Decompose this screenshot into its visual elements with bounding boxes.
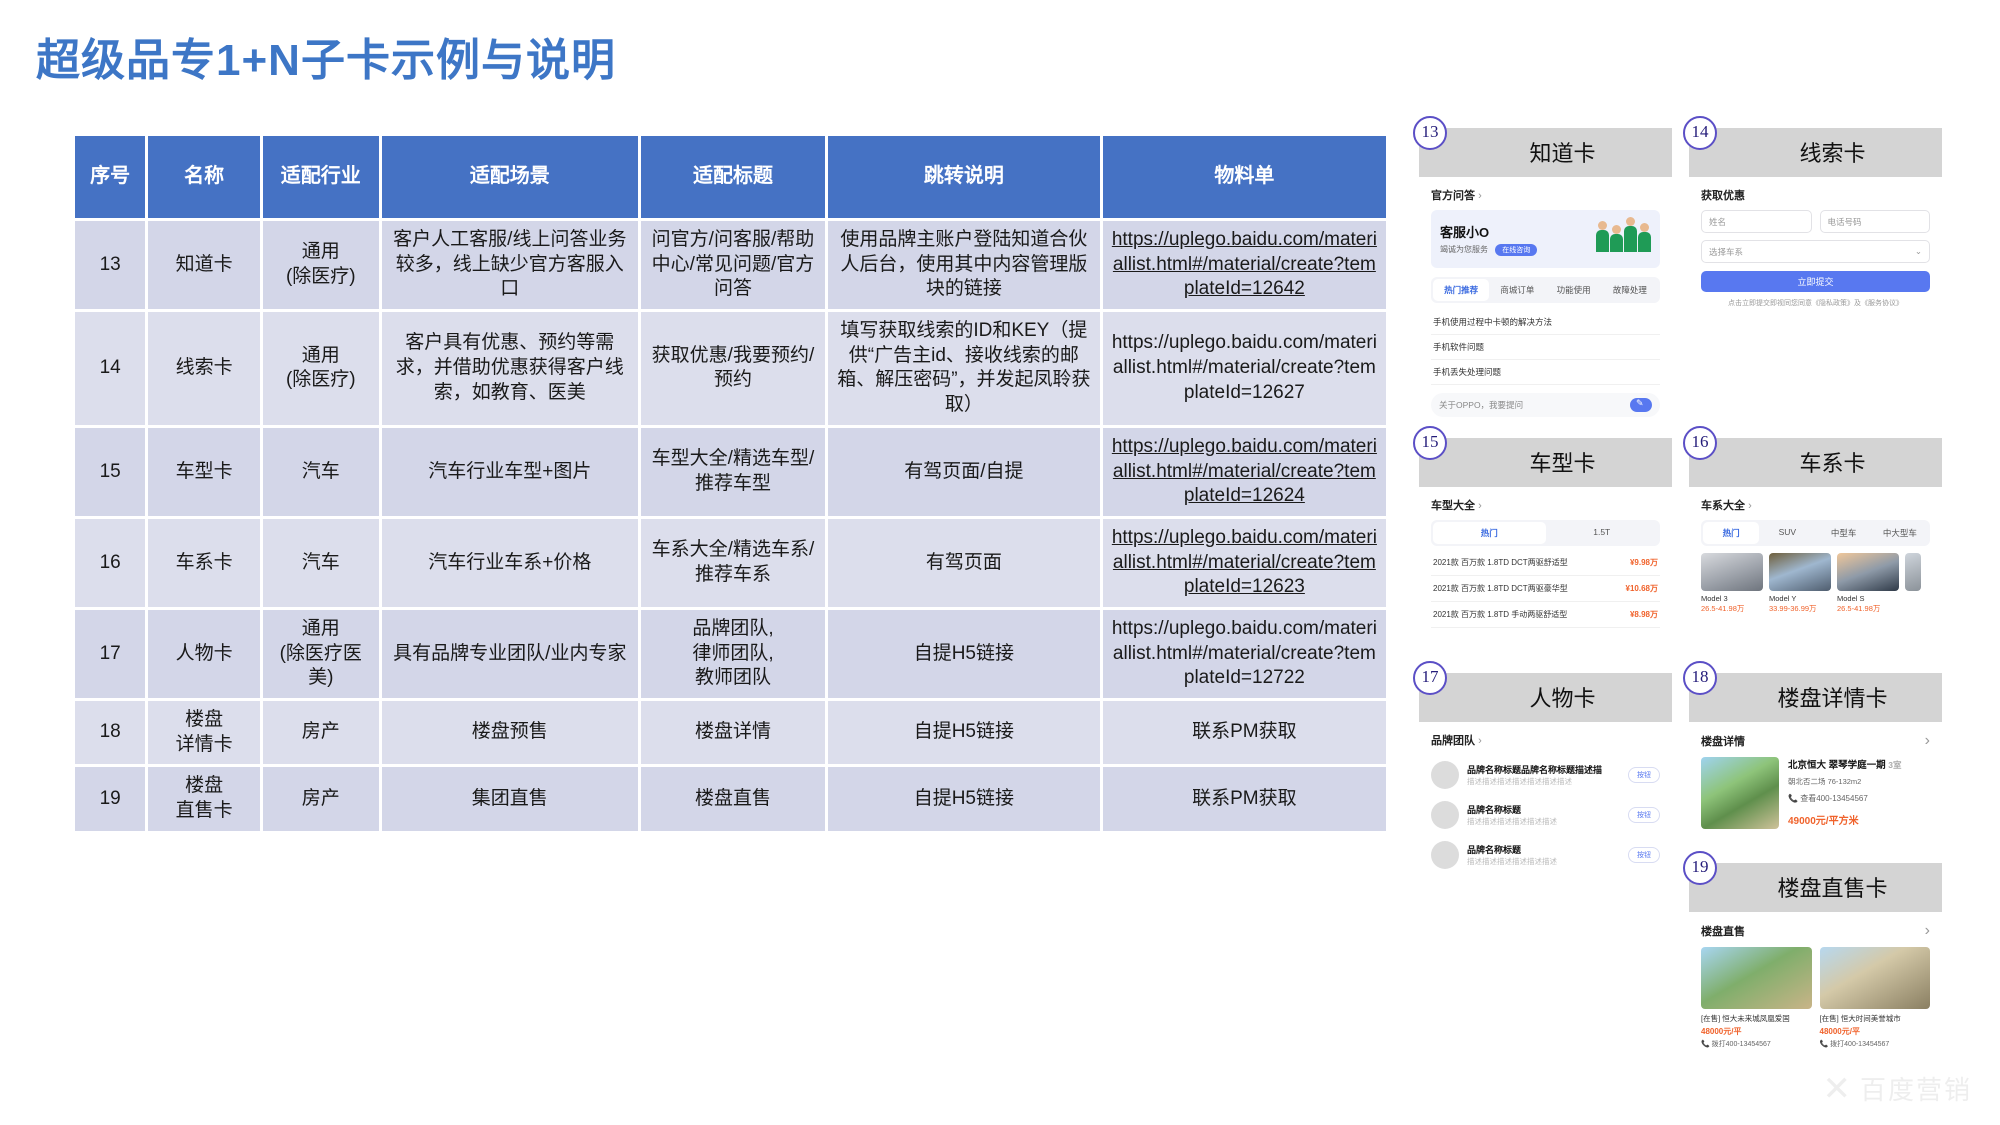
knowledge-question[interactable]: 手机软件问题 [1431, 335, 1660, 360]
series-car-cell[interactable]: Model S26.5-41.98万 [1837, 553, 1899, 614]
house-name-text: 北京恒大 翠琴学庭一期 [1788, 760, 1886, 771]
person-action-button[interactable]: 按钮 [1628, 767, 1660, 783]
column-header-title: 适配标题 [641, 136, 825, 218]
row-scene: 楼盘预售 [382, 701, 638, 764]
preview-card-person: 17 人物卡 品牌团队 › 品牌名称标题品牌名称标题描述描描述描述描述描述描述描… [1419, 673, 1672, 887]
direct-item-price: 48000元/平 [1820, 1026, 1931, 1037]
direct-item[interactable]: [在售] 恒大未来城凤凰爱国48000元/平📞 拨打400-13454567 [1701, 947, 1812, 1049]
person-item-list: 品牌名称标题品牌名称标题描述描描述描述描述描述描述描述描述按钮品牌名称标题描述描… [1431, 755, 1660, 875]
material-link[interactable]: 联系PM获取 [1192, 721, 1297, 742]
person-desc: 描述描述描述描述描述描述 [1467, 816, 1620, 827]
row-title: 楼盘直售 [641, 767, 825, 830]
row-name: 楼盘详情卡 [148, 701, 260, 764]
house-name: 北京恒大 翠琴学庭一期 3室 [1788, 757, 1930, 772]
series-tabs[interactable]: 热门SUV中型车中大型车 [1701, 520, 1930, 546]
house-spec: 朝北否二场 76-132m2 [1788, 776, 1930, 787]
card-badge-19: 19 [1683, 851, 1717, 885]
person-text: 品牌名称标题描述描述描述描述描述描述 [1467, 843, 1620, 867]
table-row: 14线索卡通用(除医疗)客户具有优惠、预约等需求，并借助优惠获得客户线索，如教育… [75, 312, 1386, 425]
series-tab[interactable]: SUV [1759, 522, 1815, 544]
card-title-series: 车系卡 [1689, 438, 1942, 487]
table-row: 13知道卡通用(除医疗)客户人工客服/线上问答业务较多，线上缺少官方客服入口问官… [75, 221, 1386, 309]
series-tab[interactable]: 中型车 [1816, 522, 1872, 544]
knowledge-tab[interactable]: 功能使用 [1546, 279, 1602, 301]
direct-item-name: [在售] 恒大时间美誉城市 [1820, 1013, 1931, 1024]
house-section-head: 楼盘详情 › [1701, 732, 1930, 750]
direct-item-name: [在售] 恒大未来城凤凰爱国 [1701, 1013, 1812, 1024]
privacy-note: 点击立即提交即视同您同意《隐私政策》及《服务协议》 [1701, 298, 1930, 308]
chevron-right-icon[interactable]: › [1748, 500, 1752, 512]
series-car-name: Model S [1837, 594, 1899, 603]
row-material[interactable]: 联系PM获取 [1103, 767, 1386, 830]
row-material[interactable]: https://uplego.baidu.com/materiallist.ht… [1103, 428, 1386, 516]
series-car-price: 26.5-41.98万 [1837, 603, 1899, 614]
person-item[interactable]: 品牌名称标题描述描述描述描述描述描述按钮 [1431, 835, 1660, 875]
chevron-right-icon[interactable]: › [1925, 922, 1930, 940]
row-name: 车型卡 [148, 428, 260, 516]
series-car-photo [1769, 553, 1831, 591]
card-title-model: 车型卡 [1419, 438, 1672, 487]
model-tab[interactable]: 1.5T [1546, 522, 1659, 544]
chevron-right-icon[interactable]: › [1478, 500, 1482, 512]
series-car-cell[interactable]: Model Y33.99-36.99万 [1769, 553, 1831, 614]
row-jump: 有驾页面/自提 [828, 428, 1100, 516]
ask-input[interactable]: 关于OPPO，我要提问 [1431, 393, 1660, 417]
series-car-photo [1701, 553, 1763, 591]
row-no: 13 [75, 221, 145, 309]
spec-table: 序号 名称 适配行业 适配场景 适配标题 跳转说明 物料单 13知道卡通用(除医… [72, 133, 1389, 834]
model-tab[interactable]: 热门 [1433, 522, 1546, 544]
row-material[interactable]: https://uplego.baidu.com/materiallist.ht… [1103, 221, 1386, 309]
knowledge-question[interactable]: 手机使用过程中卡顿的解决方法 [1431, 310, 1660, 335]
row-no: 16 [75, 519, 145, 607]
row-scene: 汽车行业车系+价格 [382, 519, 638, 607]
row-industry: 通用(除医疗医美) [263, 610, 379, 698]
ask-placeholder: 关于OPPO，我要提问 [1439, 399, 1523, 411]
person-desc: 描述描述描述描述描述描述 [1467, 856, 1620, 867]
preview-card-house: 18 楼盘详情卡 楼盘详情 › 北京恒大 翠琴学庭一期 3室 朝北否二场 76-… [1689, 673, 1942, 841]
house-tag: 3室 [1888, 760, 1901, 770]
preview-card-series: 16 车系卡 车系大全 › 热门SUV中型车中大型车 Model 326.5-4… [1689, 438, 1942, 626]
lead-input-row: 姓名 电话号码 [1701, 210, 1930, 233]
row-scene: 客户人工客服/线上问答业务较多，线上缺少官方客服入口 [382, 221, 638, 309]
avatar [1431, 761, 1459, 789]
agents-illustration [1596, 226, 1651, 252]
row-jump: 自提H5链接 [828, 701, 1100, 764]
table-row: 18楼盘详情卡房产楼盘预售楼盘详情自提H5链接联系PM获取 [75, 701, 1386, 764]
house-photo [1701, 757, 1779, 829]
section-text: 品牌团队 [1431, 735, 1475, 747]
model-tabs[interactable]: 热门1.5T [1431, 520, 1660, 546]
person-action-button[interactable]: 按钮 [1628, 807, 1660, 823]
row-no: 17 [75, 610, 145, 698]
card-badge-18: 18 [1683, 661, 1717, 695]
table-row: 19楼盘直售卡房产集团直售楼盘直售自提H5链接联系PM获取 [75, 767, 1386, 830]
section-label-get-offer: 获取优惠 [1701, 187, 1930, 203]
card-title-house: 楼盘详情卡 [1689, 673, 1942, 722]
direct-section-head: 楼盘直售 › [1701, 922, 1930, 940]
row-title: 车型大全/精选车型/推荐车型 [641, 428, 825, 516]
page-title: 超级品专1+N子卡示例与说明 [36, 24, 616, 88]
knowledge-tabs[interactable]: 热门推荐商城订单功能使用故障处理 [1431, 277, 1660, 303]
section-label-direct-sale: 楼盘直售 [1701, 923, 1745, 939]
name-field[interactable]: 姓名 [1701, 210, 1812, 233]
person-item[interactable]: 品牌名称标题描述描述描述描述描述描述按钮 [1431, 795, 1660, 835]
card-body-house: 楼盘详情 › 北京恒大 翠琴学庭一期 3室 朝北否二场 76-132m2 📞 查… [1689, 722, 1942, 841]
row-scene: 具有品牌专业团队/业内专家 [382, 610, 638, 698]
card-badge-15: 15 [1413, 426, 1447, 460]
direct-item-phone[interactable]: 📞 拨打400-13454567 [1701, 1039, 1812, 1049]
series-car-name: Model Y [1769, 594, 1831, 603]
knowledge-question[interactable]: 手机丢失处理问题 [1431, 360, 1660, 385]
row-material[interactable]: https://uplego.baidu.com/materiallist.ht… [1103, 312, 1386, 425]
direct-item-phone[interactable]: 📞 拨打400-13454567 [1820, 1039, 1931, 1049]
preview-card-lead: 14 线索卡 获取优惠 姓名 电话号码 选择车系 ⌄ 立即提交 点击立即提交即视… [1689, 128, 1942, 320]
knowledge-question-list: 手机使用过程中卡顿的解决方法手机软件问题手机丢失处理问题 [1431, 310, 1660, 385]
card-body-person: 品牌团队 › 品牌名称标题品牌名称标题描述描描述描述描述描述描述描述描述按钮品牌… [1419, 722, 1672, 887]
table-header-row: 序号 名称 适配行业 适配场景 适配标题 跳转说明 物料单 [75, 136, 1386, 218]
series-select[interactable]: 选择车系 ⌄ [1701, 240, 1930, 263]
agent-name: 客服小O [1440, 222, 1537, 241]
card-badge-16: 16 [1683, 426, 1717, 460]
table-row: 16车系卡汽车汽车行业车系+价格车系大全/精选车系/推荐车系有驾页面https:… [75, 519, 1386, 607]
section-label-brand-team: 品牌团队 › [1431, 732, 1660, 748]
card-body-direct: 楼盘直售 › [在售] 恒大未来城凤凰爱国48000元/平📞 拨打400-134… [1689, 912, 1942, 1061]
section-label-official-qa: 官方问答 › [1431, 187, 1660, 203]
column-header-name: 名称 [148, 136, 260, 218]
material-link[interactable]: https://uplego.baidu.com/materiallist.ht… [1112, 332, 1377, 402]
row-industry: 房产 [263, 701, 379, 764]
card-title-knowledge: 知道卡 [1419, 128, 1672, 177]
row-jump: 填写获取线索的ID和KEY（提供“广告主id、接收线索的邮箱、解压密码”，并发起… [828, 312, 1100, 425]
preview-panel: 13 知道卡 官方问答 › 客服小O 竭诚为您服务 在线咨询 [1419, 128, 1979, 1088]
model-item[interactable]: 2021款 百万款 1.8TD DCT两驱豪华型¥10.68万 [1431, 576, 1660, 602]
submit-button[interactable]: 立即提交 [1701, 271, 1930, 292]
series-car-price: 33.99-36.99万 [1769, 603, 1831, 614]
row-title: 问官方/问客服/帮助中心/常见问题/官方问答 [641, 221, 825, 309]
section-label-series-list: 车系大全 › [1701, 497, 1930, 513]
person-action-button[interactable]: 按钮 [1628, 847, 1660, 863]
knowledge-tab[interactable]: 故障处理 [1602, 279, 1658, 301]
model-item-price: ¥10.68万 [1626, 583, 1658, 594]
row-title: 楼盘详情 [641, 701, 825, 764]
direct-item-row: [在售] 恒大未来城凤凰爱国48000元/平📞 拨打400-13454567[在… [1701, 947, 1930, 1049]
row-material[interactable]: 联系PM获取 [1103, 701, 1386, 764]
series-tab[interactable]: 热门 [1703, 522, 1759, 544]
card-title-direct: 楼盘直售卡 [1689, 863, 1942, 912]
chevron-down-icon: ⌄ [1915, 246, 1922, 257]
card-badge-13: 13 [1413, 116, 1447, 150]
card-body-model: 车型大全 › 热门1.5T 2021款 百万款 1.8TD DCT两驱舒适型¥9… [1419, 487, 1672, 640]
agent-banner[interactable]: 客服小O 竭诚为您服务 在线咨询 [1431, 210, 1660, 268]
preview-card-direct: 19 楼盘直售卡 楼盘直售 › [在售] 恒大未来城凤凰爱国48000元/平📞 … [1689, 863, 1942, 1061]
row-industry: 通用(除医疗) [263, 221, 379, 309]
column-header-scene: 适配场景 [382, 136, 638, 218]
table-row: 17人物卡通用(除医疗医美)具有品牌专业团队/业内专家品牌团队,律师团队,教师团… [75, 610, 1386, 698]
row-jump: 有驾页面 [828, 519, 1100, 607]
direct-item[interactable]: [在售] 恒大时间美誉城市48000元/平📞 拨打400-13454567 [1820, 947, 1931, 1049]
direct-item-price: 48000元/平 [1701, 1026, 1812, 1037]
series-tab[interactable]: 中大型车 [1872, 522, 1928, 544]
preview-card-knowledge: 13 知道卡 官方问答 › 客服小O 竭诚为您服务 在线咨询 [1419, 128, 1672, 429]
model-item-price: ¥9.98万 [1630, 557, 1658, 568]
material-link[interactable]: https://uplego.baidu.com/materiallist.ht… [1112, 618, 1377, 688]
agent-pill[interactable]: 在线咨询 [1495, 244, 1537, 256]
row-scene: 客户具有优惠、预约等需求，并借助优惠获得客户线索，如教育、医美 [382, 312, 638, 425]
series-car-cell-partial[interactable] [1905, 553, 1921, 614]
card-body-lead: 获取优惠 姓名 电话号码 选择车系 ⌄ 立即提交 点击立即提交即视同您同意《隐私… [1689, 177, 1942, 320]
person-text: 品牌名称标题描述描述描述描述描述描述 [1467, 803, 1620, 827]
watermark: ✕ 百度营销 [1822, 1070, 1972, 1107]
section-text: 车型大全 [1431, 500, 1475, 512]
row-industry: 通用(除医疗) [263, 312, 379, 425]
material-link[interactable]: https://uplego.baidu.com/materiallist.ht… [1112, 229, 1377, 299]
series-select-value: 选择车系 [1709, 246, 1743, 258]
row-name: 人物卡 [148, 610, 260, 698]
model-item-price: ¥8.98万 [1630, 609, 1658, 620]
row-name: 线索卡 [148, 312, 260, 425]
row-no: 19 [75, 767, 145, 830]
material-link[interactable]: 联系PM获取 [1192, 788, 1297, 809]
section-label-house-detail: 楼盘详情 [1701, 733, 1745, 749]
row-industry: 汽车 [263, 519, 379, 607]
row-industry: 汽车 [263, 428, 379, 516]
pencil-icon[interactable] [1630, 398, 1652, 412]
section-label-model-list: 车型大全 › [1431, 497, 1660, 513]
card-badge-17: 17 [1413, 661, 1447, 695]
series-car-name: Model 3 [1701, 594, 1763, 603]
material-link[interactable]: https://uplego.baidu.com/materiallist.ht… [1112, 436, 1377, 506]
column-header-jump: 跳转说明 [828, 136, 1100, 218]
material-link[interactable]: https://uplego.baidu.com/materiallist.ht… [1112, 527, 1377, 597]
watermark-text: 百度营销 [1860, 1070, 1972, 1107]
row-name: 知道卡 [148, 221, 260, 309]
series-car-photo [1837, 553, 1899, 591]
section-text: 车系大全 [1701, 500, 1745, 512]
series-car-grid: Model 326.5-41.98万Model Y33.99-36.99万Mod… [1701, 553, 1930, 614]
preview-card-model: 15 车型卡 车型大全 › 热门1.5T 2021款 百万款 1.8TD DCT… [1419, 438, 1672, 640]
person-text: 品牌名称标题品牌名称标题描述描描述描述描述描述描述描述描述 [1467, 763, 1620, 787]
column-header-industry: 适配行业 [263, 136, 379, 218]
row-jump: 自提H5链接 [828, 767, 1100, 830]
row-jump: 使用品牌主账户登陆知道合伙人后台，使用其中内容管理版块的链接 [828, 221, 1100, 309]
chevron-right-icon[interactable]: › [1478, 735, 1482, 747]
house-phone-text: 查看400-13454567 [1800, 794, 1868, 803]
card-title-lead: 线索卡 [1689, 128, 1942, 177]
row-jump: 自提H5链接 [828, 610, 1100, 698]
section-text: 官方问答 [1431, 190, 1475, 202]
house-row[interactable]: 北京恒大 翠琴学庭一期 3室 朝北否二场 76-132m2 📞 查看400-13… [1701, 757, 1930, 829]
agent-sub-text: 竭诚为您服务 [1440, 245, 1488, 254]
row-title: 获取优惠/我要预约/预约 [641, 312, 825, 425]
row-name: 楼盘直售卡 [148, 767, 260, 830]
avatar [1431, 841, 1459, 869]
knowledge-tab[interactable]: 商城订单 [1489, 279, 1545, 301]
row-name: 车系卡 [148, 519, 260, 607]
column-header-no: 序号 [75, 136, 145, 218]
agent-subtitle: 竭诚为您服务 在线咨询 [1440, 244, 1537, 256]
chevron-right-icon[interactable]: › [1925, 732, 1930, 750]
series-car-photo [1905, 553, 1921, 591]
card-badge-14: 14 [1683, 116, 1717, 150]
model-item-name: 2021款 百万款 1.8TD DCT两驱舒适型 [1433, 557, 1568, 568]
house-info: 北京恒大 翠琴学庭一期 3室 朝北否二场 76-132m2 📞 查看400-13… [1788, 757, 1930, 829]
person-desc: 描述描述描述描述描述描述描述 [1467, 776, 1620, 787]
direct-item-photo [1701, 947, 1812, 1009]
column-header-material: 物料单 [1103, 136, 1386, 218]
chevron-right-icon[interactable]: › [1478, 190, 1482, 202]
row-title: 车系大全/精选车系/推荐车系 [641, 519, 825, 607]
house-price: 49000元/平方米 [1788, 812, 1930, 827]
card-body-knowledge: 官方问答 › 客服小O 竭诚为您服务 在线咨询 热门推荐商 [1419, 177, 1672, 429]
row-no: 15 [75, 428, 145, 516]
house-phone[interactable]: 📞 查看400-13454567 [1788, 793, 1930, 804]
model-item-list: 2021款 百万款 1.8TD DCT两驱舒适型¥9.98万2021款 百万款 … [1431, 550, 1660, 628]
card-body-series: 车系大全 › 热门SUV中型车中大型车 Model 326.5-41.98万Mo… [1689, 487, 1942, 626]
model-item[interactable]: 2021款 百万款 1.8TD 手动两驱舒适型¥8.98万 [1431, 602, 1660, 628]
knowledge-tab[interactable]: 热门推荐 [1433, 279, 1489, 301]
row-material[interactable]: https://uplego.baidu.com/materiallist.ht… [1103, 610, 1386, 698]
model-item-name: 2021款 百万款 1.8TD DCT两驱豪华型 [1433, 583, 1568, 594]
row-material[interactable]: https://uplego.baidu.com/materiallist.ht… [1103, 519, 1386, 607]
model-item[interactable]: 2021款 百万款 1.8TD DCT两驱舒适型¥9.98万 [1431, 550, 1660, 576]
phone-field[interactable]: 电话号码 [1820, 210, 1931, 233]
row-no: 14 [75, 312, 145, 425]
row-industry: 房产 [263, 767, 379, 830]
logo-icon: ✕ [1822, 1072, 1851, 1106]
row-no: 18 [75, 701, 145, 764]
person-name: 品牌名称标题 [1467, 843, 1620, 856]
direct-item-photo [1820, 947, 1931, 1009]
card-title-person: 人物卡 [1419, 673, 1672, 722]
person-name: 品牌名称标题 [1467, 803, 1620, 816]
avatar [1431, 801, 1459, 829]
row-scene: 集团直售 [382, 767, 638, 830]
phone-icon: 📞 [1788, 794, 1798, 803]
row-scene: 汽车行业车型+图片 [382, 428, 638, 516]
table-row: 15车型卡汽车汽车行业车型+图片车型大全/精选车型/推荐车型有驾页面/自提htt… [75, 428, 1386, 516]
series-car-price: 26.5-41.98万 [1701, 603, 1763, 614]
model-item-name: 2021款 百万款 1.8TD 手动两驱舒适型 [1433, 609, 1567, 620]
series-car-cell[interactable]: Model 326.5-41.98万 [1701, 553, 1763, 614]
row-title: 品牌团队,律师团队,教师团队 [641, 610, 825, 698]
person-item[interactable]: 品牌名称标题品牌名称标题描述描描述描述描述描述描述描述描述按钮 [1431, 755, 1660, 795]
person-name: 品牌名称标题品牌名称标题描述描 [1467, 763, 1620, 776]
